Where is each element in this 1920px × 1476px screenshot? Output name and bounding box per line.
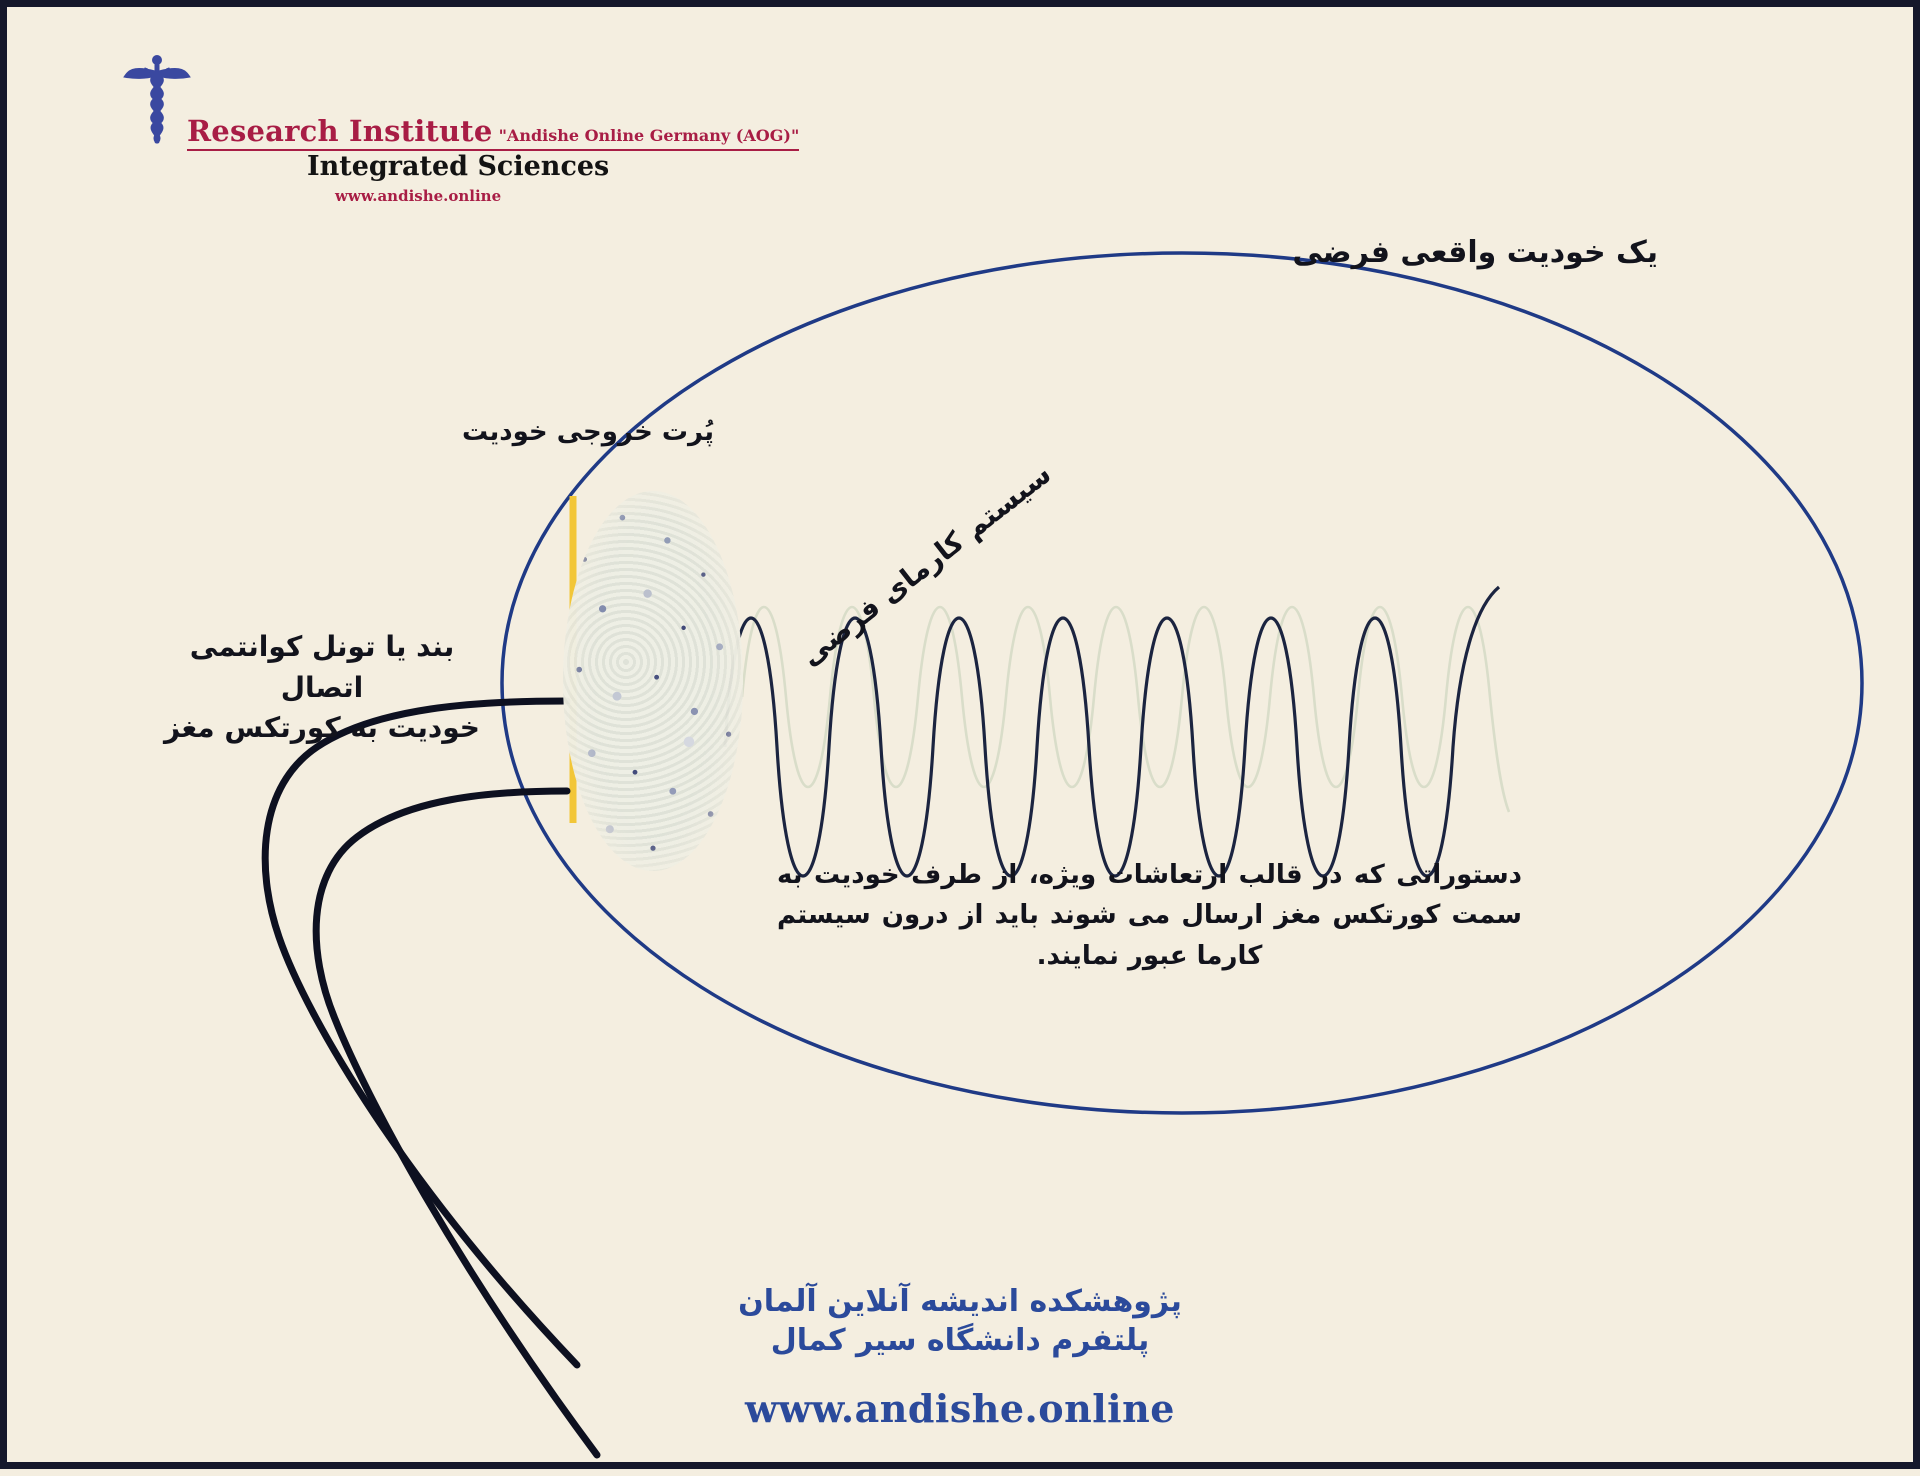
label-hypothetical-self: یک خودیت واقعی فرضی: [1292, 235, 1658, 270]
footer: پژوهشکده اندیشه آنلاین آلمان پلتفرم دانش…: [7, 1282, 1913, 1431]
label-karma-system-wrap: سیستم کارمای فرضی: [707, 427, 1037, 567]
caduceus-icon: [122, 51, 192, 151]
institute-name: Research Institute: [187, 114, 493, 148]
institute-subtitle: Integrated Sciences: [307, 151, 609, 182]
poster-canvas: Research Institute"Andishe Online German…: [0, 0, 1920, 1469]
footer-line-2: پلتفرم دانشگاه سیر کمال: [7, 1321, 1913, 1360]
footer-url: www.andishe.online: [7, 1386, 1913, 1431]
label-output-port: پُرت خروجی خودیت: [462, 417, 714, 447]
quantum-tunnel-curve-upper: [265, 701, 577, 1365]
footer-line-1: پژوهشکده اندیشه آنلاین آلمان: [7, 1282, 1913, 1321]
institute-title-line: Research Institute"Andishe Online German…: [187, 114, 799, 151]
label-quantum-tunnel: بند یا تونل کوانتمی اتصال خودیت به کورتک…: [147, 627, 497, 749]
header-website: www.andishe.online: [335, 187, 501, 205]
institute-quoted-name: "Andishe Online Germany (AOG)": [499, 126, 800, 145]
main-paragraph: دستوراتی که در قالب ارتعاشات ویژه، از طر…: [777, 855, 1522, 976]
